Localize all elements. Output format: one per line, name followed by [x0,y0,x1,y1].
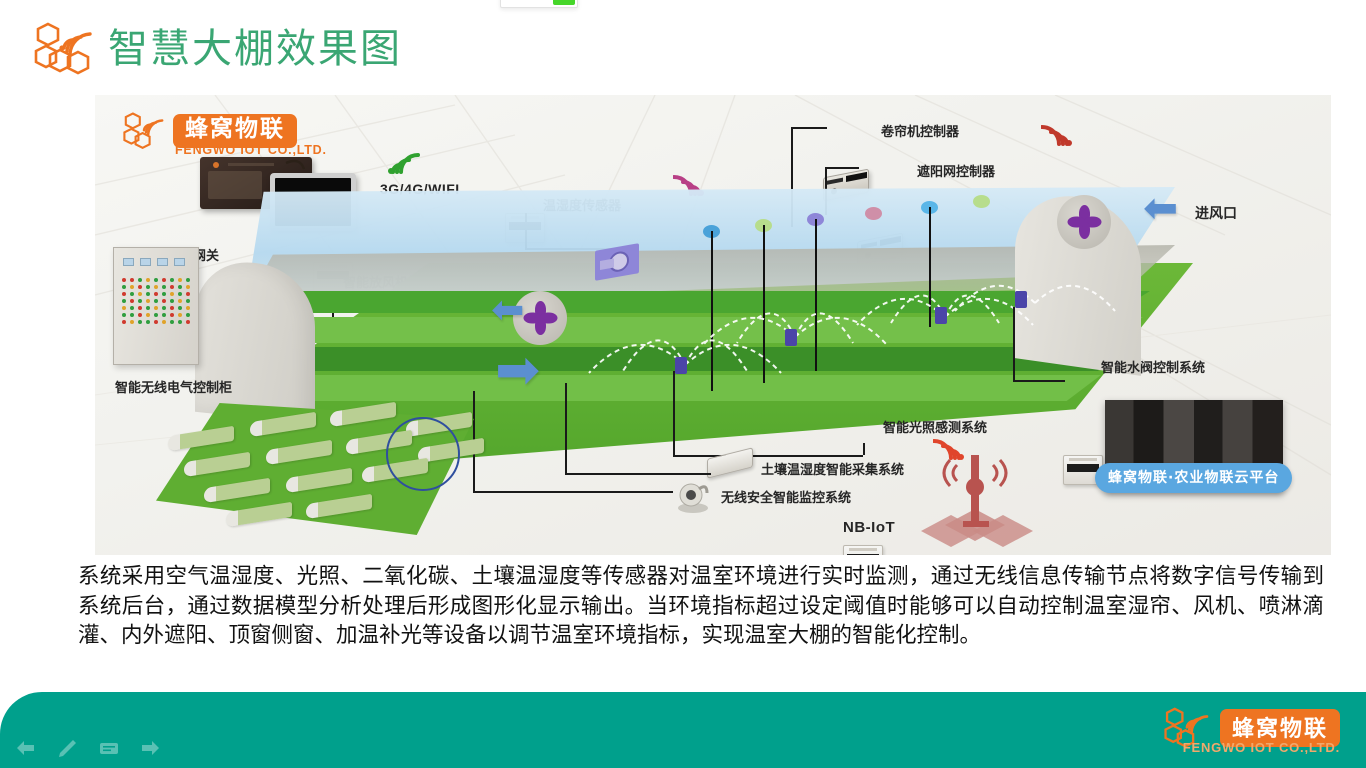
label-light-sensing-system: 智能光照感测系统 [883,417,987,436]
wire [825,167,859,169]
wire [473,491,673,493]
electrical-control-cabinet [113,247,199,365]
green-badge [553,0,575,5]
slide-root: 智慧大棚效果图 [0,0,1366,768]
wire [673,371,675,455]
label-soil-collect-system: 土壤温湿度智能采集系统 [761,459,904,478]
page-header: 智慧大棚效果图 [34,18,402,80]
top-floating-card[interactable] [500,0,578,8]
air-inlet-arrow-icon: ⬅ [1143,187,1178,229]
slide-footer: 蜂窝物联 FENGWO IOT CO.,LTD. [0,692,1366,768]
label-nbiot: NB-IoT [843,519,895,536]
label-wireless-monitor-system: 无线安全智能监控系统 [721,487,851,506]
wire [791,127,827,129]
zoom-highlight-circle [386,417,460,491]
nbiot-tower [921,447,1041,555]
greenhouse-diagram: 蜂窝物联 FENGWO IOT CO.,LTD. 智能网关 [95,95,1331,555]
sprinkler-head [1015,291,1027,308]
wireless-camera-device [673,479,713,518]
footer-toolbar[interactable] [14,738,162,758]
roof-sensor-dot [865,207,882,220]
footer-brand-en: FENGWO IOT CO.,LTD. [1183,740,1340,755]
notes-icon[interactable] [98,738,120,758]
page-title: 智慧大棚效果图 [108,29,402,69]
label-air-inlet: 进风口 [1195,203,1237,223]
fan-blades-icon [1066,204,1102,240]
wire [565,383,567,473]
greenhouse-field-cluster [150,395,480,535]
forward-arrow-icon[interactable] [140,738,162,758]
wire [565,473,711,475]
cabinet-leds [122,278,192,324]
sprinkler-head [935,307,947,324]
brand-name-en: FENGWO IOT CO.,LTD. [175,143,327,157]
intake-fan [1057,195,1111,249]
sprinkler-head [675,357,687,374]
wire [673,455,863,457]
label-control-cabinet: 智能无线电气控制柜 [115,377,232,396]
honeycomb-wifi-logo-icon [123,109,165,153]
wifi-icon-red [1041,117,1079,147]
light-sensor-device [843,545,883,555]
honeycomb-wifi-logo-icon [34,18,94,80]
label-water-valve-system: 智能水阀控制系统 [1101,357,1205,376]
wire [1013,307,1015,380]
label-roller-shutter-controller: 卷帘机控制器 [881,121,959,140]
wire [1013,380,1065,382]
cloud-platform-badge: 蜂窝物联·农业物联云平台 [1095,463,1292,493]
back-arrow-icon[interactable] [14,738,36,758]
wifi-icon-green [383,145,421,175]
description-paragraph: 系统采用空气温湿度、光照、二氧化碳、土壤温湿度等传感器对温室环境进行实时监测，通… [78,562,1324,651]
wire [863,443,865,455]
pen-icon[interactable] [56,738,78,758]
sprinkler-head [785,329,797,346]
roof-sensor-dot [973,195,990,208]
label-sunshade-controller: 遮阳网控制器 [917,161,995,180]
cabinet-buttons [123,258,185,266]
